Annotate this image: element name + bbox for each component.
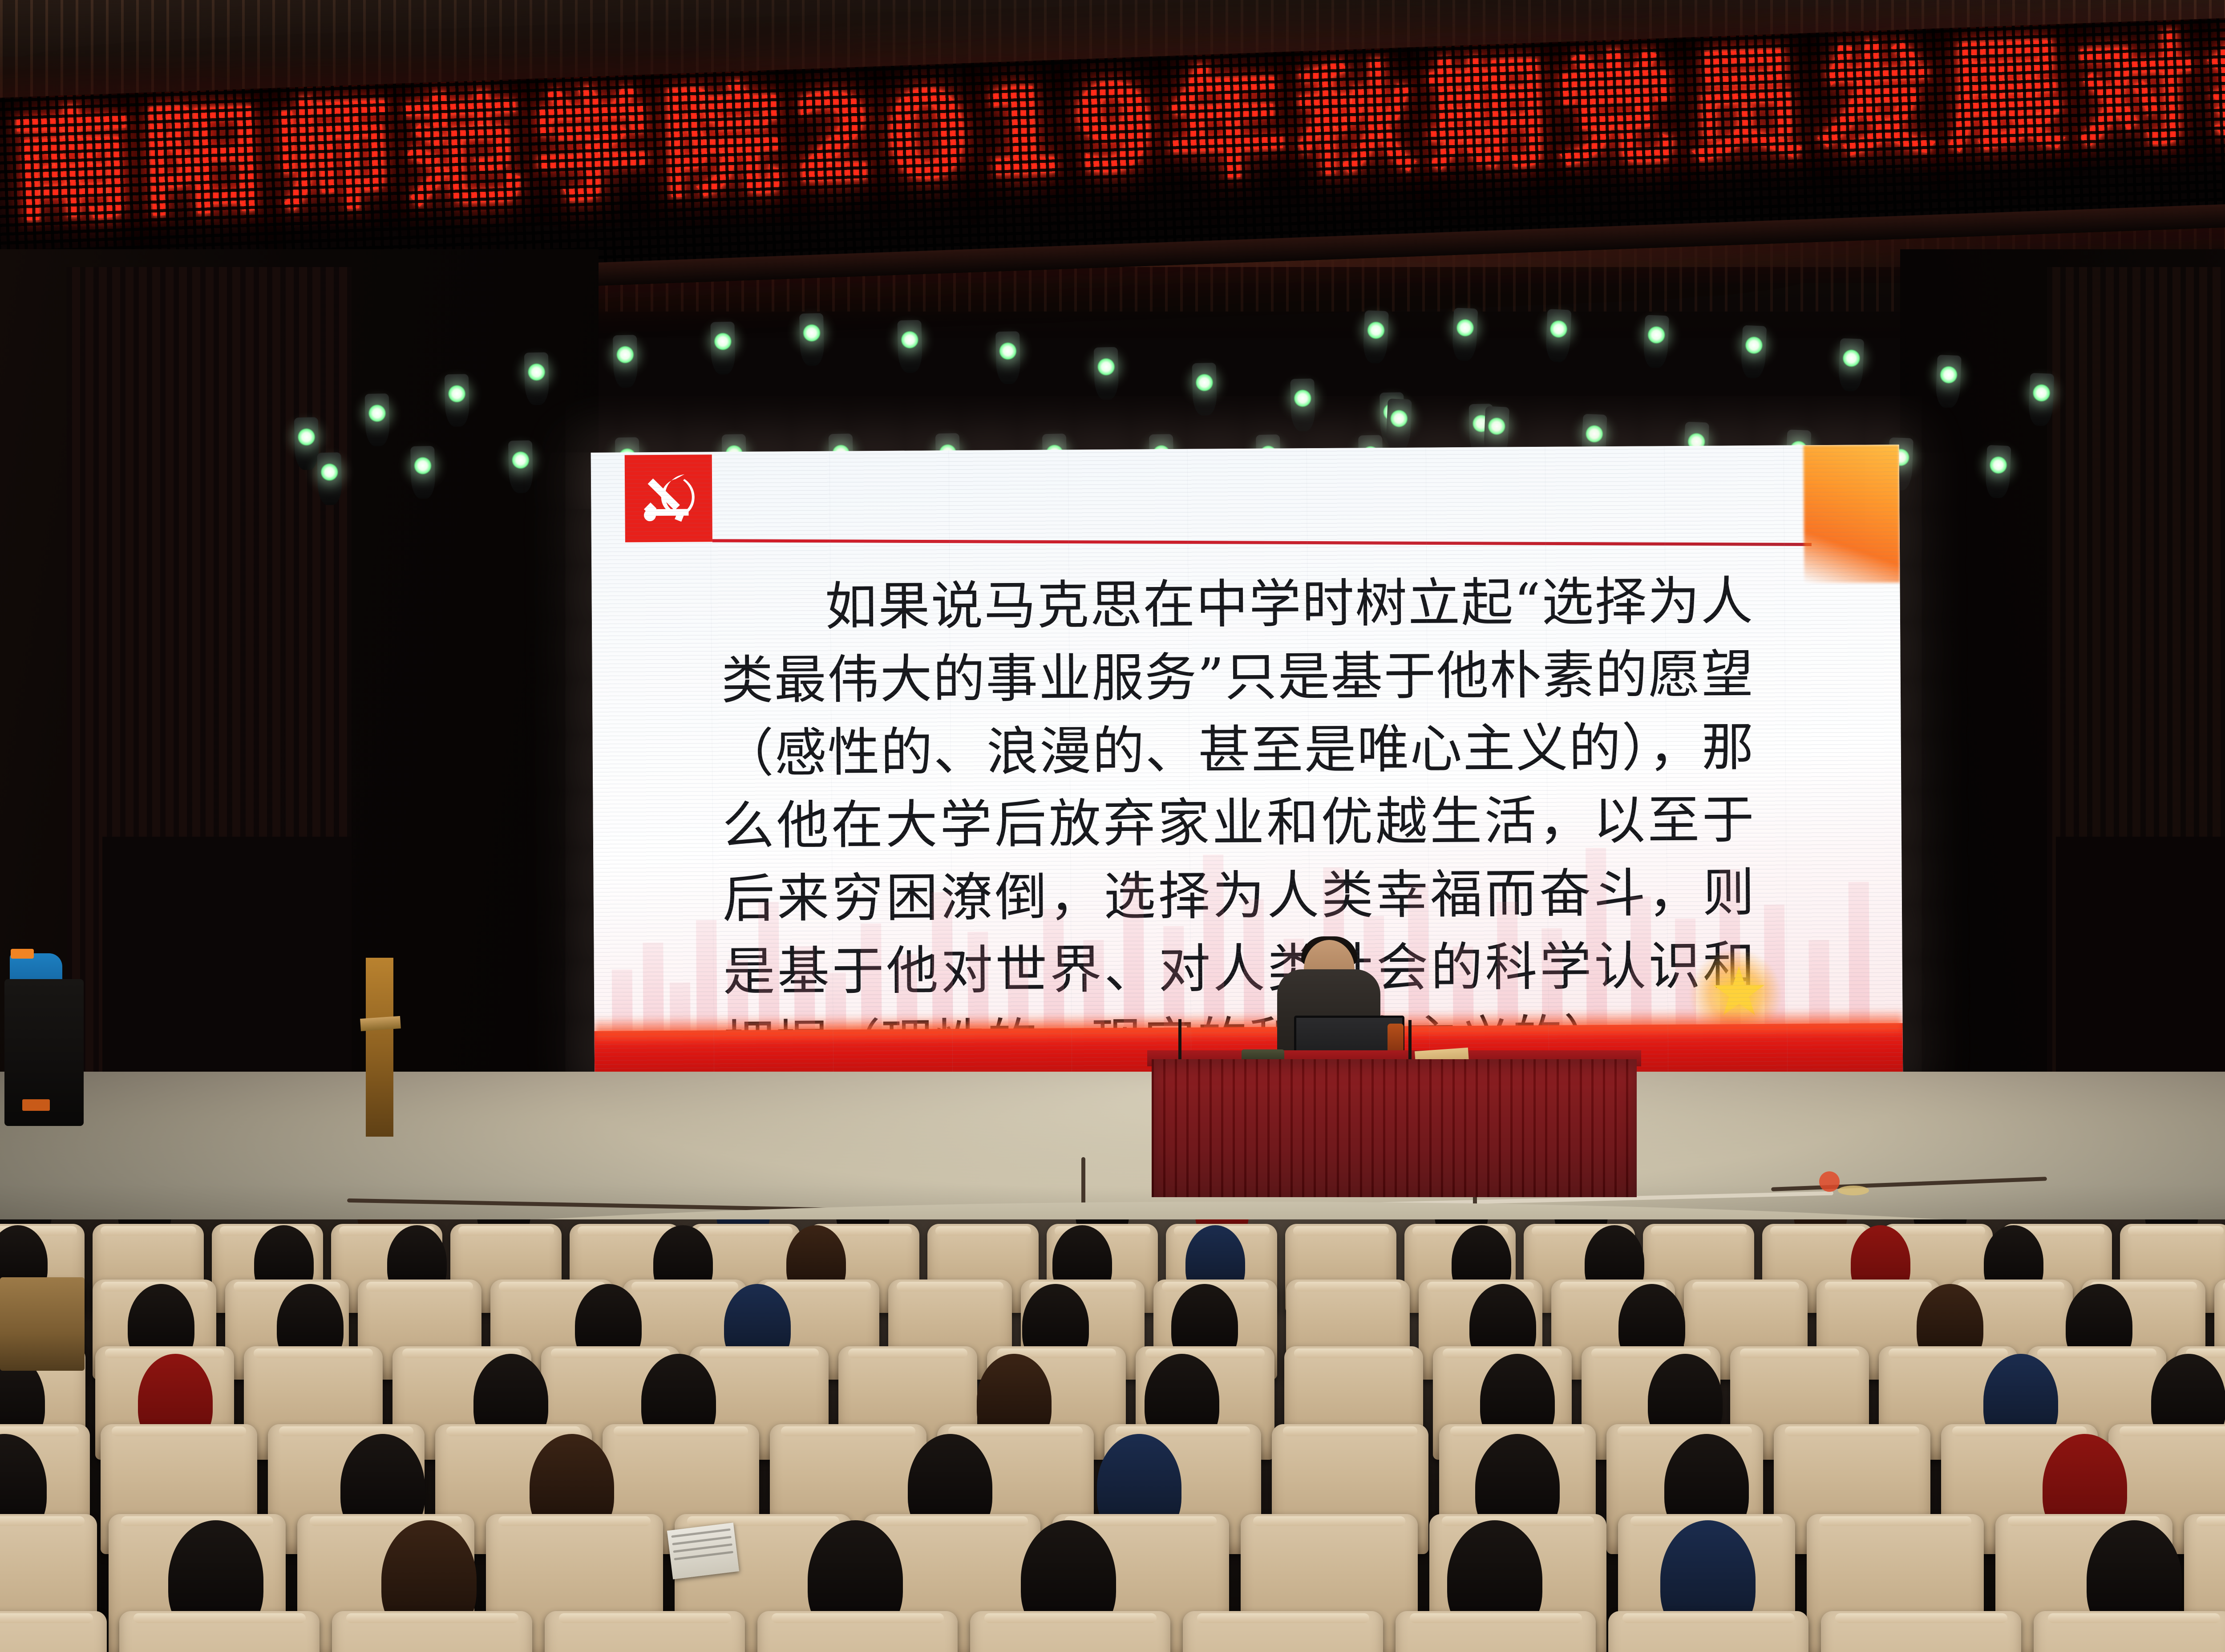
audience-area xyxy=(0,1219,2225,1652)
audience-seat[interactable] xyxy=(332,1611,532,1652)
audience-seat[interactable] xyxy=(545,1611,745,1652)
cpc-emblem-icon xyxy=(625,454,712,542)
skyline-building xyxy=(1849,882,1870,1028)
audience-seat[interactable] xyxy=(1396,1611,1596,1652)
lecture-table-drape xyxy=(1152,1059,1637,1197)
equipment-orange-clip xyxy=(11,949,34,959)
audience-seat[interactable] xyxy=(1608,1611,1808,1652)
slide-gold-band xyxy=(1804,445,1900,583)
audience-seat[interactable] xyxy=(2034,1611,2225,1652)
skyline-building xyxy=(1586,848,1607,1030)
audience-seat[interactable] xyxy=(1821,1611,2021,1652)
audience-seat[interactable] xyxy=(0,1611,107,1652)
auditorium-scene: 南阳师范学院2019年秋期党员发展对象培训班 xyxy=(0,0,2225,1652)
skyline-building xyxy=(1408,885,1429,1032)
side-wooden-chair xyxy=(0,1277,85,1371)
audience-seat[interactable] xyxy=(757,1611,958,1652)
loudspeaker-badge xyxy=(22,1099,50,1111)
projection-screen: 如果说马克思在中学时树立起“选择为人类最伟大的事业服务”只是基于他朴素的愿望（感… xyxy=(591,445,1903,1089)
skyline-building xyxy=(1203,854,1224,1032)
stage-wood-panel xyxy=(366,958,393,1137)
audience-seat[interactable] xyxy=(119,1611,320,1652)
stage-wall-panel-left xyxy=(102,837,352,1113)
seat-program-slip xyxy=(667,1522,739,1579)
floor-debris xyxy=(1838,1186,1869,1195)
skyline-building xyxy=(932,892,953,1034)
audience-seat[interactable] xyxy=(970,1611,1170,1652)
skyline-building xyxy=(1123,877,1145,1033)
stage-wall-panel-right xyxy=(2056,837,2225,1113)
floor-debris xyxy=(1819,1171,1840,1192)
audience-seat[interactable] xyxy=(1183,1611,1383,1652)
